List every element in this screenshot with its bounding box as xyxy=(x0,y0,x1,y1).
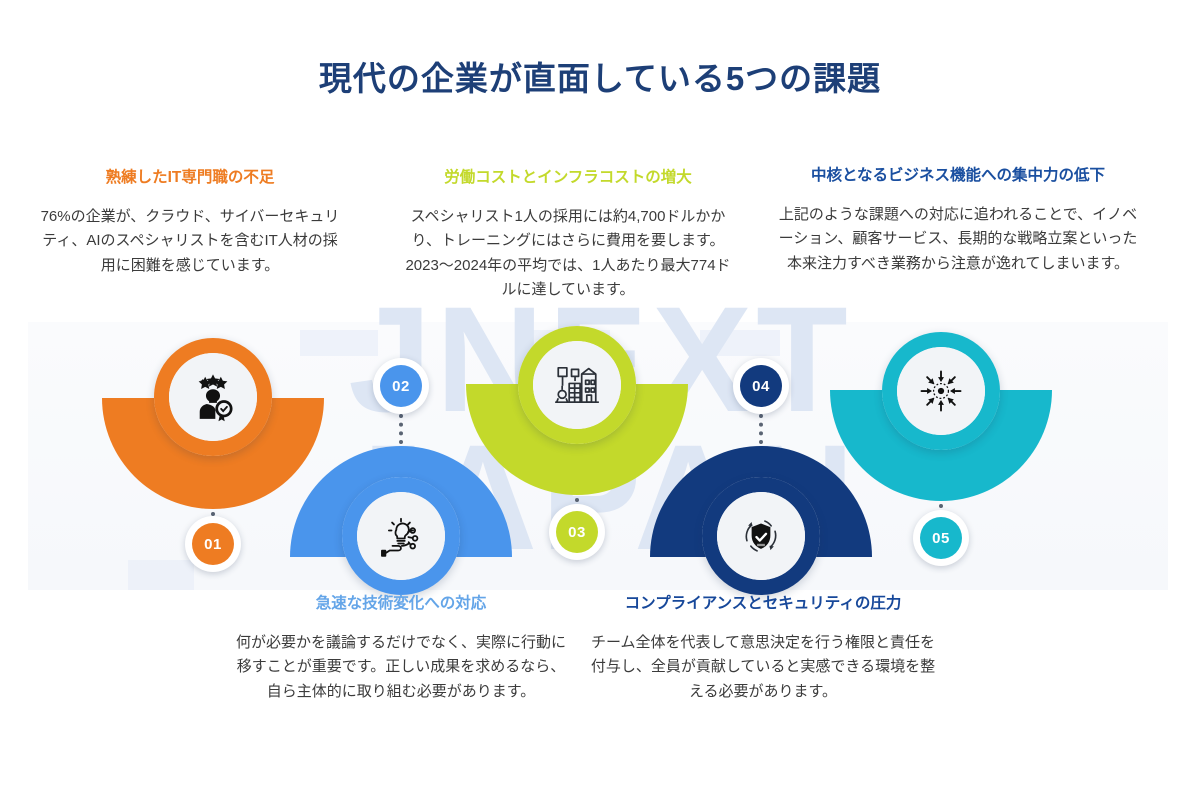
ghost-shape-a xyxy=(128,560,194,590)
focus-arrows-icon xyxy=(916,366,966,416)
shield-check-cycle-icon xyxy=(736,511,786,561)
item-05-number-badge[interactable]: 05 xyxy=(913,510,969,566)
item-05-icon-circle[interactable] xyxy=(882,332,1000,450)
item-04-icon-ring xyxy=(702,477,820,595)
item-03-icon-ring xyxy=(518,326,636,444)
item-02-number-label: 02 xyxy=(380,365,422,407)
item-02-icon-inner xyxy=(357,492,445,580)
item-04-body: チーム全体を代表して意思決定を行う権限と責任を付与し、全員が貢献していると実感で… xyxy=(588,631,938,704)
item-01-icon-ring xyxy=(154,338,272,456)
item-05-heading: 中核となるビジネス機能への集中力の低下 xyxy=(778,166,1138,187)
item-02-connector-dots xyxy=(399,414,407,444)
item-03-number-label: 03 xyxy=(556,511,598,553)
item-05-body: 上記のような課題への対応に追われることで、イノベーション、顧客サービス、長期的な… xyxy=(778,203,1138,276)
item-01-number-label: 01 xyxy=(192,523,234,565)
text-block-item-05: 中核となるビジネス機能への集中力の低下 上記のような課題への対応に追われることで… xyxy=(778,166,1138,276)
item-04-number-badge[interactable]: 04 xyxy=(733,358,789,414)
innovation-hand-bulb-icon xyxy=(376,511,426,561)
item-03-body: スペシャリスト1人の採用には約4,700ドルかかり、トレーニングにはさらに費用を… xyxy=(398,205,738,302)
infographic-canvas: JNEXT JAPAN 現代の企業が直面している5つの課題 熟練したIT専門職の… xyxy=(0,0,1200,800)
item-05-icon-ring xyxy=(882,332,1000,450)
item-01-icon-inner xyxy=(169,353,257,441)
item-04-icon-inner xyxy=(717,492,805,580)
text-block-item-04: コンプライアンスとセキュリティの圧力 チーム全体を代表して意思決定を行う権限と責… xyxy=(588,594,938,704)
item-01-number-badge[interactable]: 01 xyxy=(185,516,241,572)
item-04-heading: コンプライアンスとセキュリティの圧力 xyxy=(588,594,938,615)
item-02-body: 何が必要かを議論するだけでなく、実際に行動に移すことが重要です。正しい成果を求め… xyxy=(236,631,566,704)
item-04-number-label: 04 xyxy=(740,365,782,407)
ghost-shape-b xyxy=(300,330,378,356)
item-03-number-badge[interactable]: 03 xyxy=(549,504,605,560)
item-02-icon-circle[interactable] xyxy=(342,477,460,595)
expert-badge-icon xyxy=(188,372,238,422)
item-04-icon-circle[interactable] xyxy=(702,477,820,595)
item-02-icon-ring xyxy=(342,477,460,595)
item-03-icon-inner xyxy=(533,341,621,429)
text-block-item-02: 急速な技術変化への対応 何が必要かを議論するだけでなく、実際に行動に移すことが重… xyxy=(236,594,566,704)
text-block-item-01: 熟練したIT専門職の不足 76%の企業が、クラウド、サイバーセキュリティ、AIの… xyxy=(40,168,340,278)
page-title: 現代の企業が直面している5つの課題 xyxy=(0,52,1200,100)
item-05-icon-inner xyxy=(897,347,985,435)
item-01-body: 76%の企業が、クラウド、サイバーセキュリティ、AIのスペシャリストを含むIT人… xyxy=(40,205,340,278)
item-03-heading: 労働コストとインフラコストの増大 xyxy=(398,168,738,189)
item-04-connector-dots xyxy=(759,414,767,444)
item-02-heading: 急速な技術変化への対応 xyxy=(236,594,566,615)
item-01-icon-circle[interactable] xyxy=(154,338,272,456)
ghost-shape-d xyxy=(700,330,780,356)
item-05-number-label: 05 xyxy=(920,517,962,559)
item-01-heading: 熟練したIT専門職の不足 xyxy=(40,168,340,189)
text-block-item-03: 労働コストとインフラコストの増大 スペシャリスト1人の採用には約4,700ドルか… xyxy=(398,168,738,302)
item-03-icon-circle[interactable] xyxy=(518,326,636,444)
factory-infrastructure-icon xyxy=(552,360,602,410)
item-02-number-badge[interactable]: 02 xyxy=(373,358,429,414)
